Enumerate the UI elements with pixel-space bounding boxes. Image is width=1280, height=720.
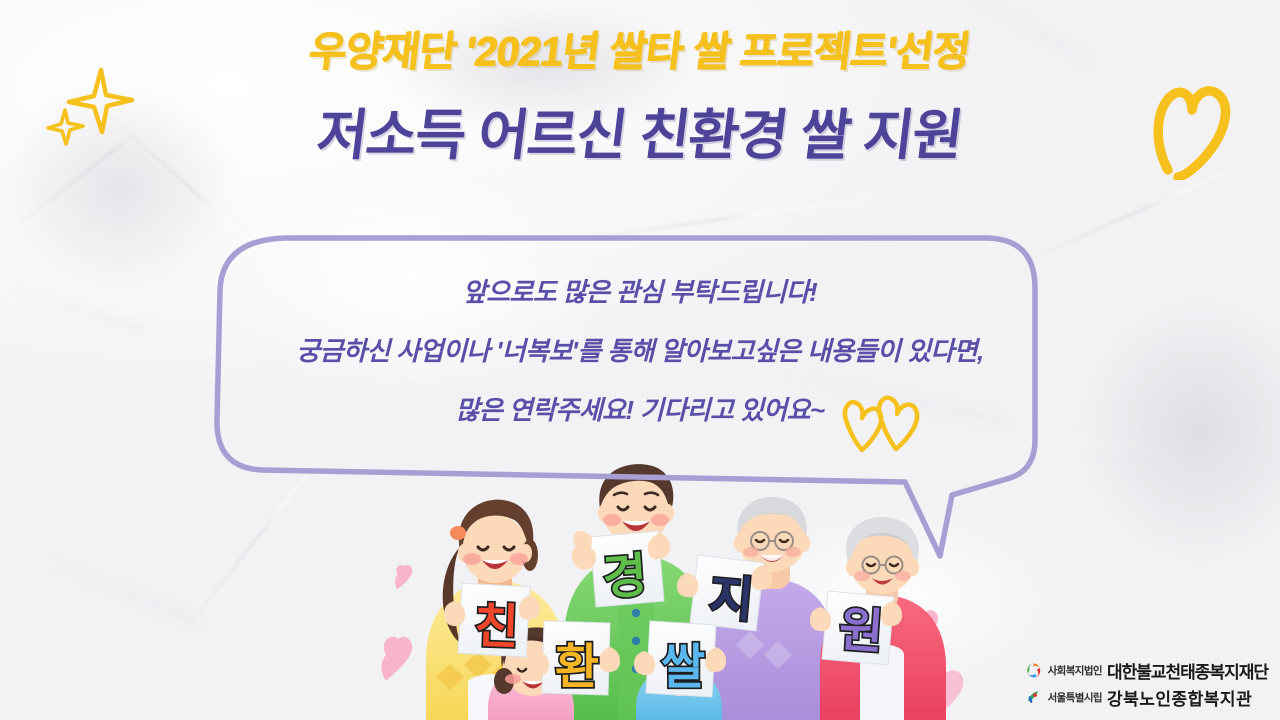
card-char-2: 경: [601, 550, 649, 606]
bubble-line-3: 많은 연락주세요! 기다리고 있어요~: [165, 390, 1115, 427]
card-char-1: 환: [555, 641, 599, 694]
card-char-4: 지: [707, 571, 756, 628]
bubble-text-block: 앞으로도 많은 관심 부탁드립니다! 궁금하신 사업이나 '너복보'를 통해 알…: [165, 272, 1115, 427]
card-char-3: 쌀: [661, 641, 705, 694]
card-char-5: 원: [837, 604, 885, 660]
poster-canvas: 우양재단 '2021년 쌀타 쌀 프로젝트'선정 저소득 어르신 친환경 쌀 지…: [0, 0, 1280, 720]
headline-top: 우양재단 '2021년 쌀타 쌀 프로젝트'선정: [306, 18, 974, 78]
bubble-line-1: 앞으로도 많은 관심 부탁드립니다!: [165, 272, 1115, 309]
bubble-line-2: 궁금하신 사업이나 '너복보'를 통해 알아보고싶은 내용들이 있다면,: [165, 331, 1115, 368]
foundation-prefix: 사회복지법인: [1048, 663, 1102, 678]
foundation-name: 대한불교천태종복지재단: [1107, 658, 1268, 683]
center-prefix: 서울특별시립: [1048, 690, 1102, 705]
seoul-mark-icon: [1024, 688, 1043, 707]
heart-pair-doodle: [838, 392, 928, 467]
logo-row-foundation: 사회복지법인 대한불교천태종복지재단: [1024, 658, 1268, 683]
family-illustration: 친 환 경 쌀 지 원: [368, 455, 968, 720]
headline-main: 저소득 어르신 친환경 쌀 지원: [313, 90, 967, 170]
poster-titles: 우양재단 '2021년 쌀타 쌀 프로젝트'선정 저소득 어르신 친환경 쌀 지…: [0, 18, 1280, 170]
logo-block: 사회복지법인 대한불교천태종복지재단 서울특별시립 강북노인종합복지관: [1024, 658, 1268, 712]
card-char-0: 친: [474, 600, 520, 655]
center-name: 강북노인종합복지관: [1107, 685, 1252, 710]
logo-row-center: 서울특별시립 강북노인종합복지관: [1024, 685, 1268, 710]
foundation-circle-icon: [1024, 661, 1043, 680]
